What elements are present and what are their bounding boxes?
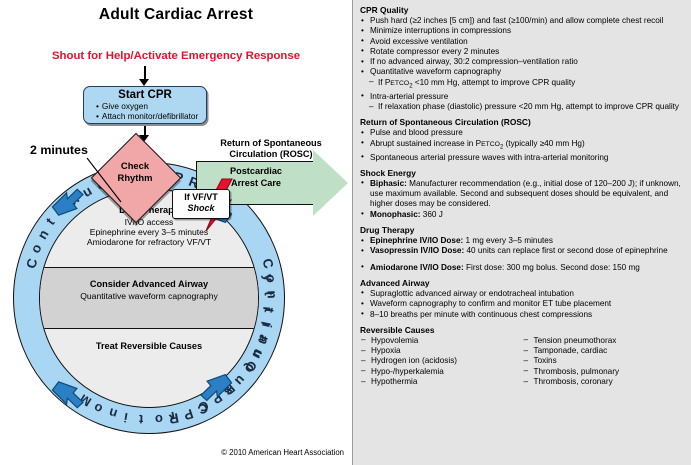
list-advanced-airway: Supraglottic advanced airway or endotrac… [360,289,685,320]
section-heading-drug-therapy: Drug Therapy [360,225,685,236]
if-vf-vt-shock-box[interactable]: If VF/VT Shock [172,189,230,219]
cpr-quality-item-3: Rotate compressor every 2 minutes [360,47,685,57]
rosc-item-0: Pulse and blood pressure [360,128,685,138]
postcardiac-line1: Postcardiac [200,166,312,178]
advanced-airway-item-0: Supraglottic advanced airway or endotrac… [360,289,685,299]
cpr-quality-item-4: If no advanced airway, 30:2 compression–… [360,57,685,67]
shock-energy-item-0: Biphasic: Manufacturer recommendation (e… [360,179,685,210]
rosc-item-2: Spontaneous arterial pressure waves with… [360,153,685,163]
cpr-quality-item-1: Minimize interruptions in compressions [360,26,685,36]
rosc-label: Return of Spontaneous Circulation (ROSC) [196,138,346,160]
cpr-quality-item-2: Avoid excessive ventilation [360,37,685,47]
reversible-cause-col2-4: Thrombosis, coronary [523,377,686,387]
reversible-cause-col1-3: Hypo-/hyperkalemia [360,367,523,377]
advanced-airway-item-2: 8–10 breaths per minute with continuous … [360,310,685,320]
inner-section-treat-causes: Treat Reversible Causes [40,341,258,353]
advanced-airway-title: Consider Advanced Airway [40,279,258,291]
cpr-quality-item-7: Intra-arterial pressure [360,92,685,102]
reversible-cause-col2-0: Tension pneumothorax [523,336,686,346]
rosc-item-1: Abrupt sustained increase in PETCO2 (typ… [360,139,685,153]
advanced-airway-line-1: Quantitative waveform capnography [40,291,258,301]
advanced-airway-item-1: Waveform capnography to confirm and moni… [360,299,685,309]
reference-panel: CPR Quality Push hard (≥2 inches [5 cm])… [352,0,691,465]
ring-text-char: t [139,412,144,427]
cpr-quality-item-0: Push hard (≥2 inches [5 cm]) and fast (≥… [360,16,685,26]
ring-text-char: o [154,411,163,427]
ring-text-char: t [262,291,277,296]
start-cpr-box[interactable]: Start CPR Give oxygen Attach monitor/def… [83,86,207,124]
treat-reversible-causes-title: Treat Reversible Causes [40,341,258,353]
algorithm-panel: Adult Cardiac Arrest Shout for Help/Acti… [0,0,352,465]
shock-box-line2: Shock [173,203,229,214]
reversible-cause-col1-1: Hypoxia [360,346,523,356]
reversible-cause-col1-4: Hypothermia [360,377,523,387]
two-minutes-label: 2 minutes [30,143,88,157]
drug-therapy-item-1: Vasopressin IV/IO Dose: 40 units can rep… [360,246,685,256]
rosc-label-line1: Return of Spontaneous [196,138,346,149]
reversible-causes-columns: HypovolemiaHypoxiaHydrogen ion (acidosis… [360,336,685,387]
list-drug-therapy: Epinephrine IV/IO Dose: 1 mg every 3–5 m… [360,236,685,273]
reversible-cause-col2-3: Thrombosis, pulmonary [523,367,686,377]
section-heading-advanced-airway: Advanced Airway [360,278,685,289]
arrow-shout-to-startcpr-head [139,79,149,86]
section-heading-shock-energy: Shock Energy [360,168,685,179]
list-cpr-quality: Push hard (≥2 inches [5 cm]) and fast (≥… [360,16,685,112]
drug-therapy-line-3: Amiodarone for refractory VF/VT [40,237,258,247]
list-reversible-causes-col1: HypovolemiaHypoxiaHydrogen ion (acidosis… [360,336,523,387]
rosc-label-line2: Circulation (ROSC) [196,149,346,160]
start-cpr-bullet-monitor: Attach monitor/defibrillator [84,112,206,122]
inner-section-advanced-airway: Consider Advanced Airway Quantitative wa… [40,279,258,301]
page-title: Adult Cardiac Arrest [0,6,352,24]
cpr-quality-item-8: If relaxation phase (diastolic) pressure… [360,102,685,112]
reversible-cause-col1-0: Hypovolemia [360,336,523,346]
drug-therapy-item-0: Epinephrine IV/IO Dose: 1 mg every 3–5 m… [360,236,685,246]
reversible-cause-col2-2: Toxins [523,356,686,366]
section-heading-cpr-quality: CPR Quality [360,5,685,16]
section-heading-rosc: Return of Spontaneous Circulation (ROSC) [360,117,685,128]
cpr-quality-item-5: Quantitative waveform capnography [360,67,685,77]
two-minutes-leader-line [85,156,123,204]
section-heading-reversible-causes: Reversible Causes [360,325,685,336]
list-shock-energy: Biphasic: Manufacturer recommendation (e… [360,179,685,220]
arrow-shout-to-startcpr [144,66,146,80]
copyright-text: © 2010 American Heart Association [0,448,344,457]
reversible-cause-col1-2: Hydrogen ion (acidosis) [360,356,523,366]
list-reversible-causes-col2: Tension pneumothoraxTamponade, cardiacTo… [523,336,686,387]
shock-box-line1: If VF/VT [173,192,229,203]
cpr-quality-item-6: If PETCO2 <10 mm Hg, attempt to improve … [360,78,685,92]
list-rosc: Pulse and blood pressureAbrupt sustained… [360,128,685,163]
reversible-cause-col2-1: Tamponade, cardiac [523,346,686,356]
shout-for-help-text: Shout for Help/Activate Emergency Respon… [0,50,352,62]
drug-therapy-item-3: Amiodarone IV/IO Dose: First dose: 300 m… [360,263,685,273]
shock-energy-item-1: Monophasic: 360 J [360,210,685,220]
